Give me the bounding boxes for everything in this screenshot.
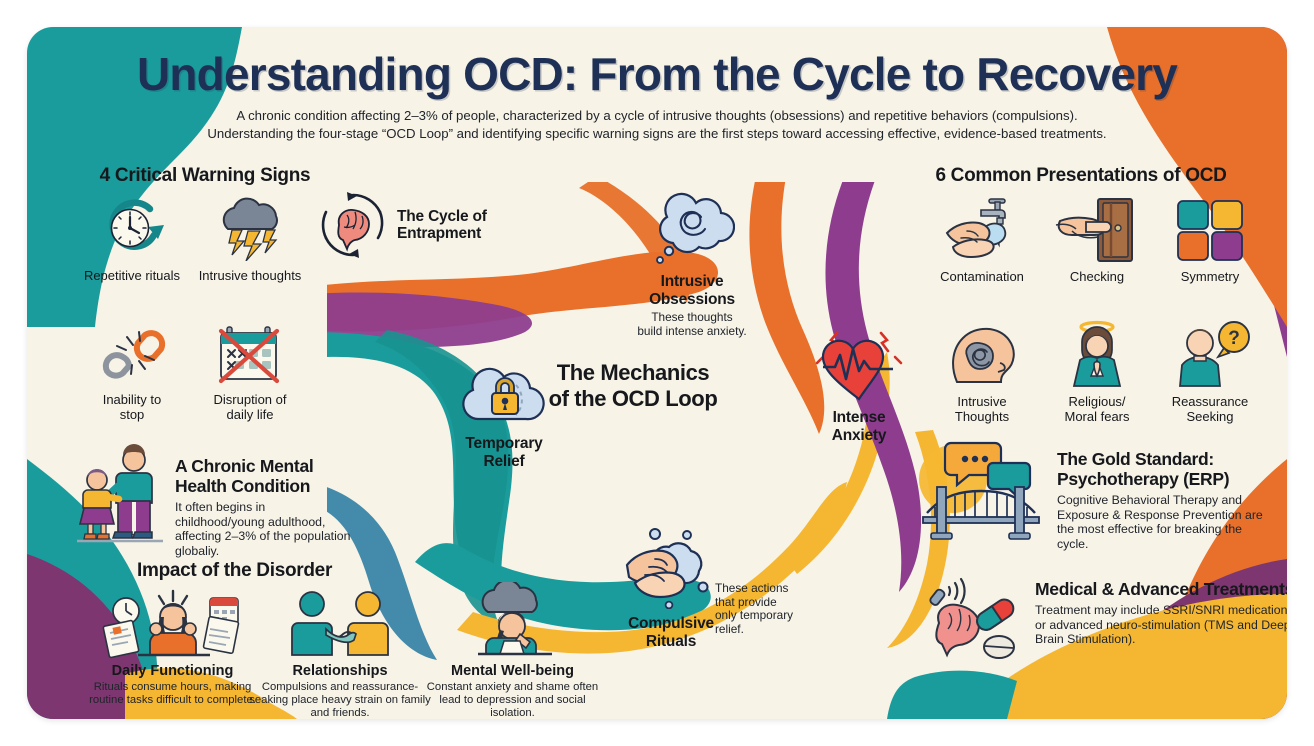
storm-cloud-lightning-icon [195, 195, 305, 261]
heartbeat-heart-icon [799, 327, 919, 405]
title-line-2: Health Condition [175, 476, 310, 496]
node-title-line-2: Relief [483, 453, 524, 470]
medical-treatments-body: Treatment may include SSRI/SNRI medicati… [1035, 603, 1287, 647]
note-line-2: that provide [715, 595, 777, 609]
crossed-out-calendar-icon [195, 319, 305, 385]
warning-sign-cell-intrusive-thoughts: Intrusive thoughts [195, 195, 305, 283]
warning-sign-label: Repetitive rituals [77, 268, 187, 283]
impact-item-body: Rituals consume hours, making routine ta… [85, 681, 260, 707]
speech-bubbles-bridge-icon [917, 435, 1045, 541]
label-line-2: Thoughts [955, 409, 1009, 424]
title-line-1: A Chronic Mental [175, 456, 313, 476]
presentation-cell-religious-moral-fears: Religious/ Moral fears [1042, 322, 1152, 424]
label-line-2: stop [120, 407, 145, 422]
warning-sign-cell-disruption-daily-life: Disruption of daily life [195, 319, 305, 422]
node-title-line-1: Temporary [465, 435, 542, 452]
label-line-1: Religious/ [1068, 394, 1125, 409]
node-title-line-2: Obsessions [649, 291, 735, 308]
node-title-line-1: Intrusive [661, 273, 724, 290]
warning-sign-cell-repetitive-rituals: Repetitive rituals [77, 195, 187, 283]
badge-title-line-1: The Cycle of [397, 208, 487, 225]
node-title-line-2: Rituals [646, 633, 696, 650]
presentation-cell-reassurance-seeking: ? Reassurance Seeking [1155, 322, 1265, 424]
subtitle-line-1: A chronic condition affecting 2–3% of pe… [236, 108, 1077, 123]
person-question-bubble-icon: ? [1155, 322, 1265, 388]
praying-figure-halo-icon [1042, 322, 1152, 388]
loop-node-intrusive-obsessions: Intrusive Obsessions These thoughts buil… [617, 187, 767, 338]
label-line-1: Inability to [103, 392, 162, 407]
loop-node-title: Intense Anxiety [799, 409, 919, 444]
brain-cycle-arrows-icon [317, 189, 389, 261]
clock-cycle-icon [77, 195, 187, 261]
head-brain-spiral-icon [927, 322, 1037, 388]
ocd-loop-center-heading: The Mechanics of the OCD Loop [513, 360, 753, 412]
broken-chain-icon [77, 319, 187, 385]
impact-item-relationships: Relationships Compulsions and reassuranc… [249, 587, 431, 719]
page-title: Understanding OCD: From the Cycle to Rec… [27, 47, 1287, 101]
sad-person-raincloud-icon [425, 582, 600, 659]
node-title-line-1: Compulsive [628, 615, 714, 632]
label-line-2: Seeking [1187, 409, 1234, 424]
warning-sign-label: Intrusive thoughts [195, 268, 305, 283]
loop-node-title: Intrusive Obsessions [617, 273, 767, 308]
warning-signs-heading: 4 Critical Warning Signs [55, 165, 355, 187]
label-line-2: Moral fears [1064, 409, 1129, 424]
impact-item-title: Relationships [249, 663, 431, 680]
center-heading-line-2: of the OCD Loop [549, 386, 718, 411]
node-title-line-1: Intense [833, 409, 886, 426]
presentation-label: Checking [1042, 269, 1152, 284]
impact-item-body: Constant anxiety and shame often lead to… [425, 681, 600, 719]
badge-title-line-2: Entrapment [397, 225, 481, 242]
chronic-condition-title: A Chronic Mental Health Condition [175, 456, 353, 496]
loop-node-subtext: These thoughts build intense anxiety. [617, 311, 767, 338]
impact-heading: Impact of the Disorder [137, 560, 332, 582]
loop-node-title: Temporary Relief [439, 435, 569, 470]
chronic-condition-body: It often begins in childhood/young adult… [175, 500, 353, 558]
impact-item-body: Compulsions and reassurance-seaking plac… [249, 681, 431, 719]
impact-item-title: Daily Functioning [85, 663, 260, 680]
title-line-1: The Gold Standard: [1057, 449, 1214, 469]
label-line-1: Disruption of [214, 392, 287, 407]
impact-item-mental-wellbeing: Mental Well-being Constant anxiety and s… [425, 582, 600, 719]
node-sub-line-1: These thoughts [651, 310, 732, 324]
presentation-cell-symmetry: Symmetry [1155, 197, 1265, 284]
page-subtitle: A chronic condition affecting 2–3% of pe… [117, 107, 1197, 142]
note-line-3: only temporary [715, 608, 793, 622]
medical-treatments-block: Medical & Advanced Treatments Treatment … [917, 575, 1287, 661]
presentations-heading: 6 Common Presentations of OCD [901, 165, 1261, 187]
chronic-condition-block: A Chronic Mental Health Condition It oft… [77, 442, 367, 558]
warning-sign-cell-inability-to-stop: Inability to stop [77, 319, 187, 422]
hand-door-handle-icon [1042, 197, 1152, 263]
subtitle-line-2: Understanding the four-stage “OCD Loop” … [207, 126, 1106, 141]
gold-standard-title: The Gold Standard: Psychotherapy (ERP) [1057, 449, 1272, 489]
presentation-label: Religious/ Moral fears [1042, 394, 1152, 424]
warning-sign-label: Inability to stop [77, 392, 187, 422]
svg-text:?: ? [1228, 328, 1240, 349]
node-title-line-2: Anxiety [832, 427, 887, 444]
washing-hands-faucet-icon [927, 197, 1037, 263]
stressed-person-paperwork-icon [85, 587, 260, 659]
loop-node-intense-anxiety: Intense Anxiety [799, 327, 919, 444]
presentation-label: Intrusive Thoughts [927, 394, 1037, 424]
pills-brain-stimulation-icon [917, 575, 1023, 661]
presentation-cell-intrusive-thoughts: Intrusive Thoughts [927, 322, 1037, 424]
node-sub-line-2: build intense anxiety. [637, 324, 746, 338]
warning-sign-label: Disruption of daily life [195, 392, 305, 422]
presentation-label: Contamination [927, 269, 1037, 284]
gold-standard-body: Cognitive Behavioral Therapy and Exposur… [1057, 493, 1272, 551]
impact-item-daily-functioning: Daily Functioning Rituals consume hours,… [85, 587, 260, 707]
presentation-cell-contamination: Contamination [927, 197, 1037, 284]
label-line-1: Intrusive [957, 394, 1006, 409]
compulsive-rituals-note: These actions that provide only temporar… [715, 582, 825, 636]
title-line-2: Psychotherapy (ERP) [1057, 469, 1229, 489]
presentation-label: Reassurance Seeking [1155, 394, 1265, 424]
note-line-1: These actions [715, 581, 788, 595]
four-colored-squares-icon [1155, 197, 1265, 263]
label-line-1: Reassurance [1172, 394, 1249, 409]
cycle-of-entrapment-badge: The Cycle of Entrapment [317, 189, 487, 261]
presentation-cell-checking: Checking [1042, 197, 1152, 284]
presentation-label: Symmetry [1155, 269, 1265, 284]
infographic-poster: Understanding OCD: From the Cycle to Rec… [27, 27, 1287, 719]
medical-treatments-title: Medical & Advanced Treatments [1035, 579, 1287, 599]
two-people-handshake-icon [249, 587, 431, 659]
note-line-4: relief. [715, 622, 744, 636]
parent-and-child-icon [77, 442, 163, 546]
label-line-2: daily life [227, 407, 274, 422]
cycle-badge-title: The Cycle of Entrapment [397, 208, 487, 243]
impact-item-title: Mental Well-being [425, 663, 600, 680]
thought-cloud-spiral-icon [617, 187, 767, 267]
center-heading-line-1: The Mechanics [557, 360, 710, 385]
gold-standard-block: The Gold Standard: Psychotherapy (ERP) C… [917, 435, 1287, 551]
